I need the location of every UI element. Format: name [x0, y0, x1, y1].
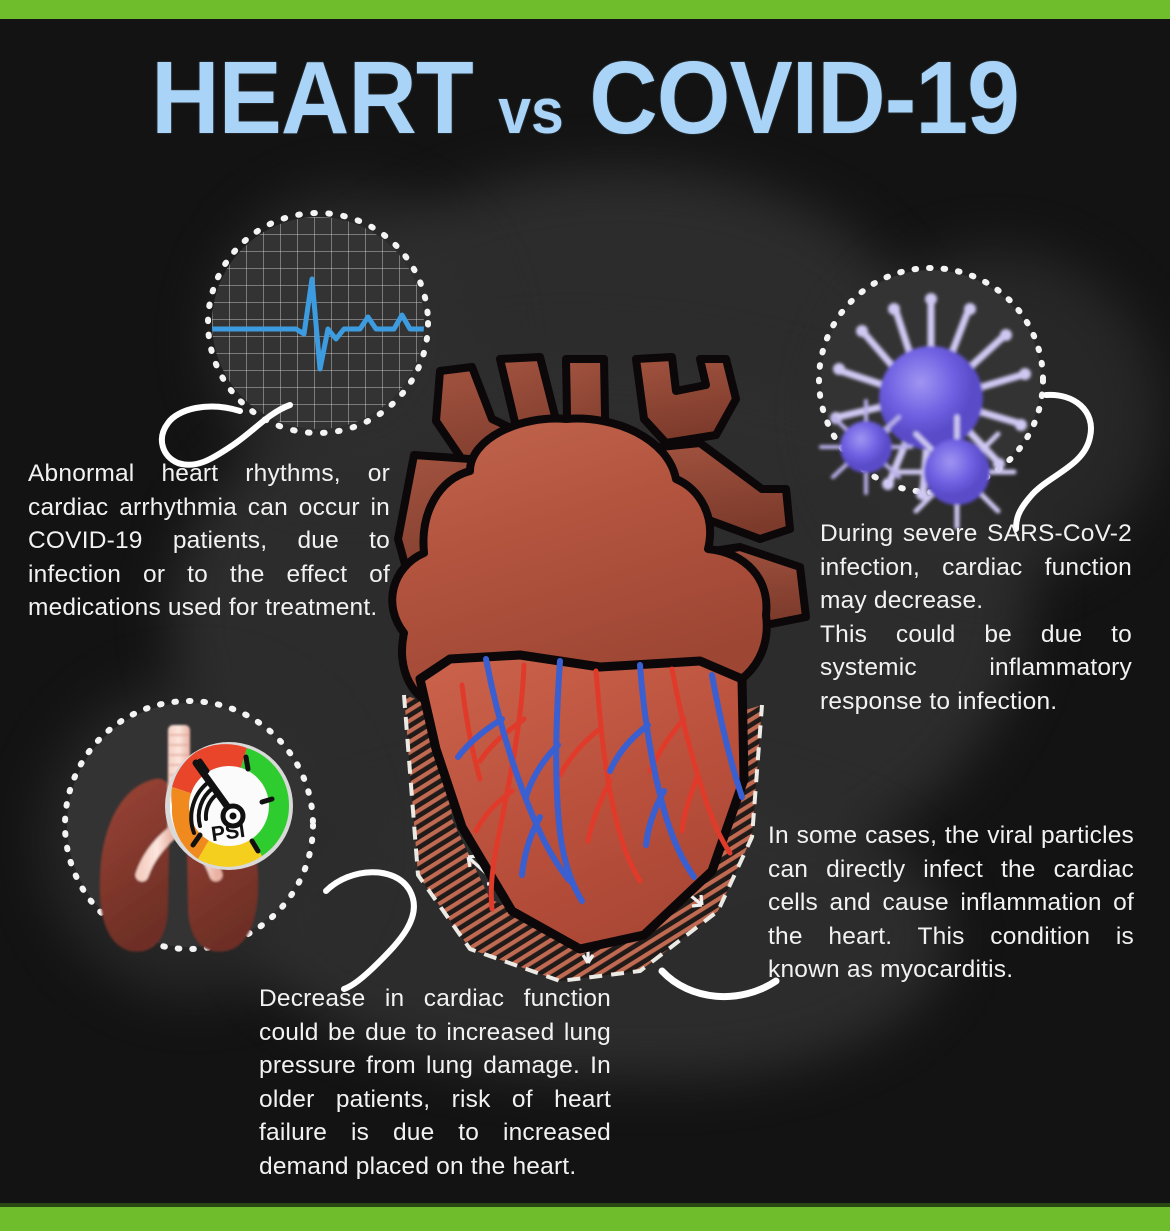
title-part-heart: HEART	[151, 40, 473, 155]
infographic-root: PSI HEART vs COVID-19 Abnormal hear	[0, 0, 1170, 1231]
paragraph: In some cases, the viral particles can d…	[768, 819, 1134, 987]
top-green-bar	[0, 0, 1170, 19]
page-title: HEART vs COVID-19	[47, 46, 1123, 149]
ecg-heart-rhythm-icon	[212, 217, 424, 429]
callout-text-ecg: Abnormal heart rhythms, or cardiac arrhy…	[28, 457, 390, 625]
poster-canvas: PSI HEART vs COVID-19 Abnormal hear	[0, 19, 1170, 1207]
paragraph: This could be due to systemic inflammato…	[820, 618, 1132, 719]
ecg-trace	[212, 217, 424, 429]
paragraph: Abnormal heart rhythms, or cardiac arrhy…	[28, 457, 390, 625]
background-blob	[40, 679, 350, 999]
title-part-covid: COVID-19	[589, 40, 1019, 155]
title-vs: vs	[498, 75, 563, 147]
callout-text-lungs: Decrease in cardiac function could be du…	[259, 982, 611, 1183]
callout-text-myocarditis: In some cases, the viral particles can d…	[768, 819, 1134, 987]
bottom-green-bar	[0, 1207, 1170, 1231]
paragraph: Decrease in cardiac function could be du…	[259, 982, 611, 1183]
callout-text-virus: During severe SARS-CoV-2 infection, card…	[820, 517, 1132, 718]
paragraph: During severe SARS-CoV-2 infection, card…	[820, 517, 1132, 618]
